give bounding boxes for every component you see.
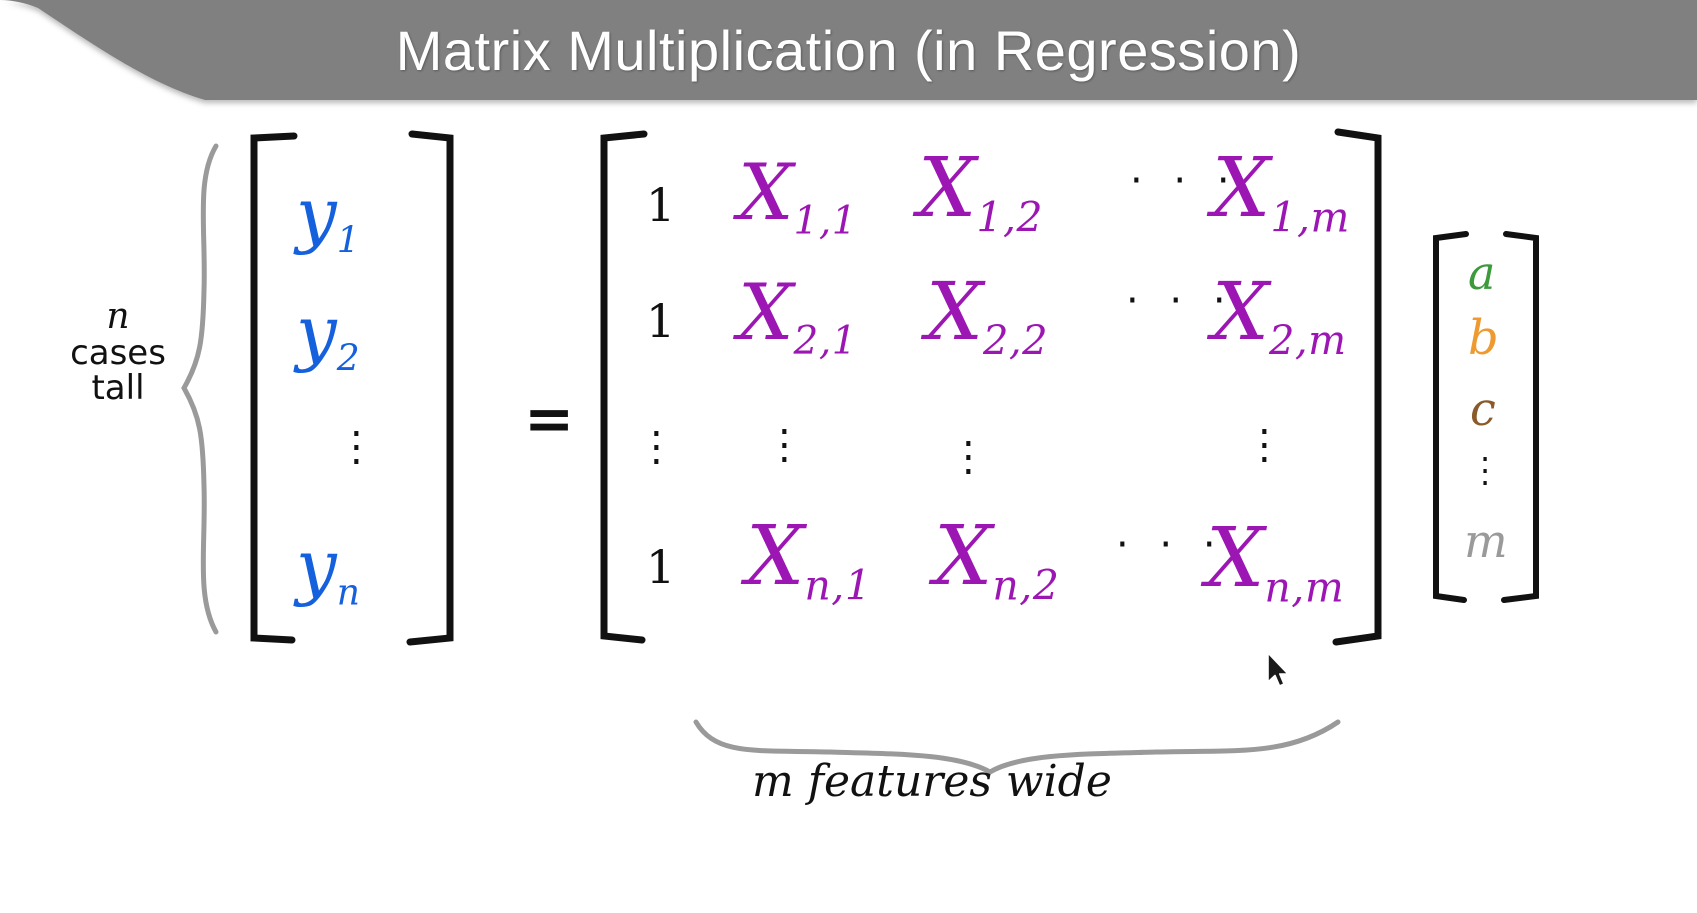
x-cell-2-m: X2,m: [1212, 272, 1347, 361]
coef-entry-m: m: [1464, 518, 1508, 564]
x-cell-n-1-base: X: [746, 509, 804, 604]
coef-entry-c: c: [1470, 386, 1496, 432]
dot: .: [1480, 468, 1490, 480]
dot: .: [650, 444, 663, 458]
label-line-cases: cases: [18, 336, 218, 372]
y-entry-2-base: y: [296, 290, 337, 374]
y-entry-n-sub: n: [337, 573, 361, 614]
x-cell-n-2: Xn,2: [934, 516, 1059, 607]
y-entry-n: yn: [296, 530, 360, 612]
m-features-wide-label: m features wide: [752, 760, 1112, 804]
x-cell-n-m-base: X: [1206, 511, 1264, 606]
x-cell-1-m-sub: 1,m: [1270, 194, 1350, 242]
x-cell-1-2-sub: 1,2: [976, 194, 1043, 242]
x-matrix: 1 1 . . . 1 X1,1 X1,2 · · · X1,m X2,1 X2…: [598, 126, 1378, 646]
x-cell-1-1-base: X: [738, 148, 794, 238]
coefficient-vector: a b c . . . m: [1428, 228, 1538, 594]
y-entry-n-base: y: [296, 524, 337, 608]
x-intercept-1-rown: 1: [646, 540, 675, 594]
x-cell-n-2-base: X: [934, 509, 992, 604]
x-cell-n-1: Xn,1: [746, 516, 871, 607]
coef-entry-b: b: [1468, 314, 1499, 362]
y-entry-1-sub: 1: [337, 221, 360, 262]
x-cell-2-2: X2,2: [926, 272, 1048, 361]
x-col1-vertical-dots: . . .: [778, 414, 791, 456]
dot: .: [350, 444, 363, 458]
x-cell-2-2-sub: 2,2: [983, 318, 1048, 364]
coef-vector-vertical-dots: . . .: [1480, 444, 1490, 480]
x-cell-1-1-sub: 1,1: [794, 199, 858, 244]
dot: .: [1258, 442, 1271, 456]
x-cell-2-m-base: X: [1212, 265, 1269, 358]
n-cases-tall-label: n cases tall: [18, 298, 218, 407]
x-cell-1-2-base: X: [918, 141, 976, 236]
slide-canvas: Matrix Multiplication (in Regression) n …: [0, 0, 1697, 913]
equals-sign: =: [524, 388, 574, 451]
y-entry-1: y1: [296, 178, 360, 260]
x-intercept-1-row2: 1: [646, 294, 675, 348]
y-entry-2: y2: [296, 296, 360, 378]
x-intercept-vertical-dots: . . .: [650, 416, 663, 458]
x-cell-1-m: X1,m: [1212, 148, 1350, 239]
x-cell-1-m-base: X: [1212, 141, 1270, 236]
label-line-n: n: [18, 298, 218, 336]
x-cell-2-1-sub: 2,1: [794, 319, 858, 364]
y-vector-vertical-dots: . . .: [350, 416, 363, 458]
x-cell-n-m-sub: n,m: [1264, 564, 1344, 612]
coef-entry-a: a: [1468, 250, 1495, 296]
x-cell-n-2-sub: n,2: [992, 562, 1059, 610]
x-colm-vertical-dots: . . .: [1258, 414, 1271, 456]
title-banner: Matrix Multiplication (in Regression): [0, 0, 1697, 118]
x-cell-n-1-sub: n,1: [804, 562, 871, 610]
mouse-cursor-icon: [1266, 652, 1292, 690]
dot: .: [778, 442, 791, 456]
banner-shape: [0, 0, 1697, 118]
x-col2-vertical-dots: . . .: [962, 426, 975, 468]
x-cell-2-m-sub: 2,m: [1269, 318, 1347, 364]
y-entry-1-base: y: [296, 172, 337, 256]
y-entry-2-sub: 2: [337, 339, 360, 380]
x-cell-n-m: Xn,m: [1206, 518, 1344, 609]
x-intercept-1-row1: 1: [646, 178, 675, 232]
y-vector: y1 y2 . . . yn: [248, 126, 458, 646]
label-line-tall: tall: [18, 371, 218, 407]
x-cell-2-1-base: X: [738, 268, 794, 358]
x-cell-2-1: X2,1: [738, 274, 857, 361]
x-cell-1-2: X1,2: [918, 148, 1043, 239]
x-cell-1-1: X1,1: [738, 154, 857, 241]
x-cell-2-2-base: X: [926, 265, 983, 358]
dot: .: [962, 454, 975, 468]
